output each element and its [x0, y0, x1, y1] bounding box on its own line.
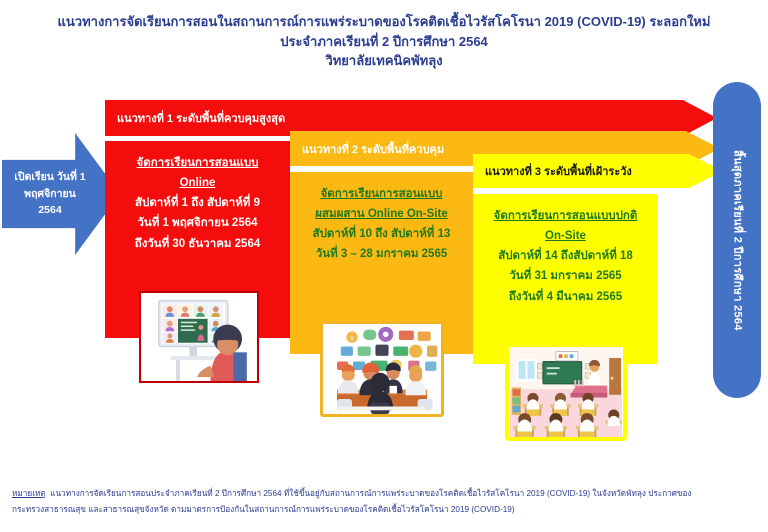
hybrid-meeting-icon: $: [323, 324, 441, 414]
online-class-icon: [141, 293, 257, 381]
track-2-line-3: สัปดาห์ที่ 10 ถึง สัปดาห์ที่ 13: [290, 224, 473, 244]
title-line-1: แนวทางการจัดเรียนการสอนในสถานการณ์การแพร…: [0, 12, 768, 32]
footnote: หมายเหตุ แนวทางการจัดเรียนการสอนประจำภาค…: [12, 486, 760, 518]
track-1-line-1: จัดการเรียนการสอนแบบ: [105, 153, 290, 173]
footnote-line-2: กระทรวงสาธารณสุข และสาธารณสุขจังหวัด ตาม…: [12, 502, 760, 518]
page-title: แนวทางการจัดเรียนการสอนในสถานการณ์การแพร…: [0, 12, 768, 71]
track-1-line-4: วันที่ 1 พฤศจิกายน 2564: [105, 213, 290, 233]
track-3-line-5: ถึงวันที่ 4 มีนาคม 2565: [473, 287, 658, 307]
track-3-banner: แนวทางที่ 3 ระดับพื้นที่เฝ้าระวัง: [473, 154, 723, 188]
track-2-line-4: วันที่ 3 – 28 มกราคม 2565: [290, 244, 473, 264]
track-3-banner-label: แนวทางที่ 3 ระดับพื้นที่เฝ้าระวัง: [473, 162, 632, 180]
start-arrow-label: เปิดเรียน วันที่ 1 พฤศจิกายน 2564: [13, 169, 87, 219]
end-pill: สิ้นสุดภาคเรียนที่ 2 ปีการศึกษา 2564: [713, 82, 761, 398]
track-1-line-5: ถึงวันที่ 30 ธันวาคม 2564: [105, 234, 290, 254]
online-class-illustration: [139, 291, 259, 383]
onsite-classroom-icon: [509, 347, 623, 437]
track-2-line-2: ผสมผสาน Online On-Site: [290, 204, 473, 224]
track-3-line-4: วันที่ 31 มกราคม 2565: [473, 266, 658, 286]
track-1-banner: แนวทางที่ 1 ระดับพื้นที่ควบคุมสูงสุด: [105, 100, 717, 136]
footnote-label: หมายเหตุ: [12, 489, 46, 498]
title-line-2: ประจำภาคเรียนที่ 2 ปีการศึกษา 2564: [0, 32, 768, 52]
track-3-line-1: จัดการเรียนการสอนแบบปกติ: [473, 206, 658, 226]
footnote-text-1: แนวทางการจัดเรียนการสอนประจำภาคเรียนที่ …: [50, 489, 691, 498]
svg-text:$: $: [350, 336, 354, 342]
track-3-panel: จัดการเรียนการสอนแบบปกติ On-Site สัปดาห์…: [473, 194, 658, 364]
onsite-classroom-illustration: [505, 343, 627, 441]
track-3-line-2: On-Site: [473, 226, 658, 246]
track-3-line-3: สัปดาห์ที่ 14 ถึงสัปดาห์ที่ 18: [473, 246, 658, 266]
track-2-line-1: จัดการเรียนการสอนแบบ: [290, 184, 473, 204]
end-pill-label: สิ้นสุดภาคเรียนที่ 2 ปีการศึกษา 2564: [728, 150, 745, 331]
track-2-banner-label: แนวทางที่ 2 ระดับพื้นที่ควบคุม: [290, 140, 444, 158]
track-1-line-3: สัปดาห์ที่ 1 ถึง สัปดาห์ที่ 9: [105, 193, 290, 213]
track-1-banner-label: แนวทางที่ 1 ระดับพื้นที่ควบคุมสูงสุด: [105, 109, 285, 127]
title-line-3: วิทยาลัยเทคนิคพัทลุง: [0, 51, 768, 71]
start-arrow: เปิดเรียน วันที่ 1 พฤศจิกายน 2564: [2, 133, 120, 255]
hybrid-meeting-illustration: $: [320, 321, 444, 417]
footnote-line-1: หมายเหตุ แนวทางการจัดเรียนการสอนประจำภาค…: [12, 486, 760, 502]
track-1-line-2: Online: [105, 173, 290, 193]
infographic-canvas: แนวทางการจัดเรียนการสอนในสถานการณ์การแพร…: [0, 0, 768, 532]
